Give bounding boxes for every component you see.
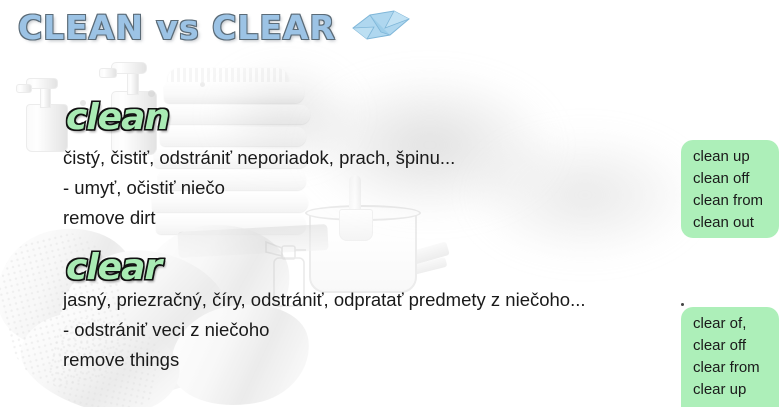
- definition-line: čistý, čistiť, odstrániť neporiadok, pra…: [63, 143, 455, 173]
- background-smudge: [470, 130, 700, 260]
- phrase-item: clean up: [693, 146, 769, 168]
- phrase-item: clean from: [693, 190, 769, 212]
- microfiber-cloth-icon: [350, 8, 412, 47]
- phrase-item: clear of,: [693, 313, 769, 335]
- definition-clean: čistý, čistiť, odstrániť neporiadok, pra…: [63, 143, 455, 233]
- slide-canvas: CLEAN vs CLEAR clean čistý, čistiť, odst…: [0, 0, 784, 407]
- phrase-item: clear off: [693, 335, 769, 357]
- phrase-item: clean off: [693, 168, 769, 190]
- heading-clear: clear: [66, 250, 161, 286]
- definition-line: - umyť, očistiť niečo: [63, 173, 455, 203]
- definition-line: jasný, priezračný, číry, odstrániť, odpr…: [63, 285, 586, 315]
- phrase-item: clear up: [693, 379, 769, 401]
- phrase-item: clear from: [693, 357, 769, 379]
- bubble-icon: [148, 90, 155, 97]
- phrase-item: clean out: [693, 212, 769, 234]
- bubble-icon: [200, 82, 205, 87]
- soap-dispenser-icon: [12, 72, 68, 150]
- definition-line: remove dirt: [63, 203, 455, 233]
- page-title: CLEAN vs CLEAR: [18, 11, 336, 44]
- phrase-box-clean: clean up clean off clean from clean out: [681, 140, 779, 238]
- decorative-dot: [681, 303, 684, 306]
- definition-line: remove things: [63, 345, 586, 375]
- definition-line: - odstrániť veci z niečoho: [63, 315, 586, 345]
- definition-clear: jasný, priezračný, číry, odstrániť, odpr…: [63, 285, 586, 375]
- heading-clean: clean: [66, 100, 169, 136]
- slide-title-row: CLEAN vs CLEAR: [18, 8, 412, 47]
- phrase-box-clear: clear of, clear off clear from clear up: [681, 307, 779, 407]
